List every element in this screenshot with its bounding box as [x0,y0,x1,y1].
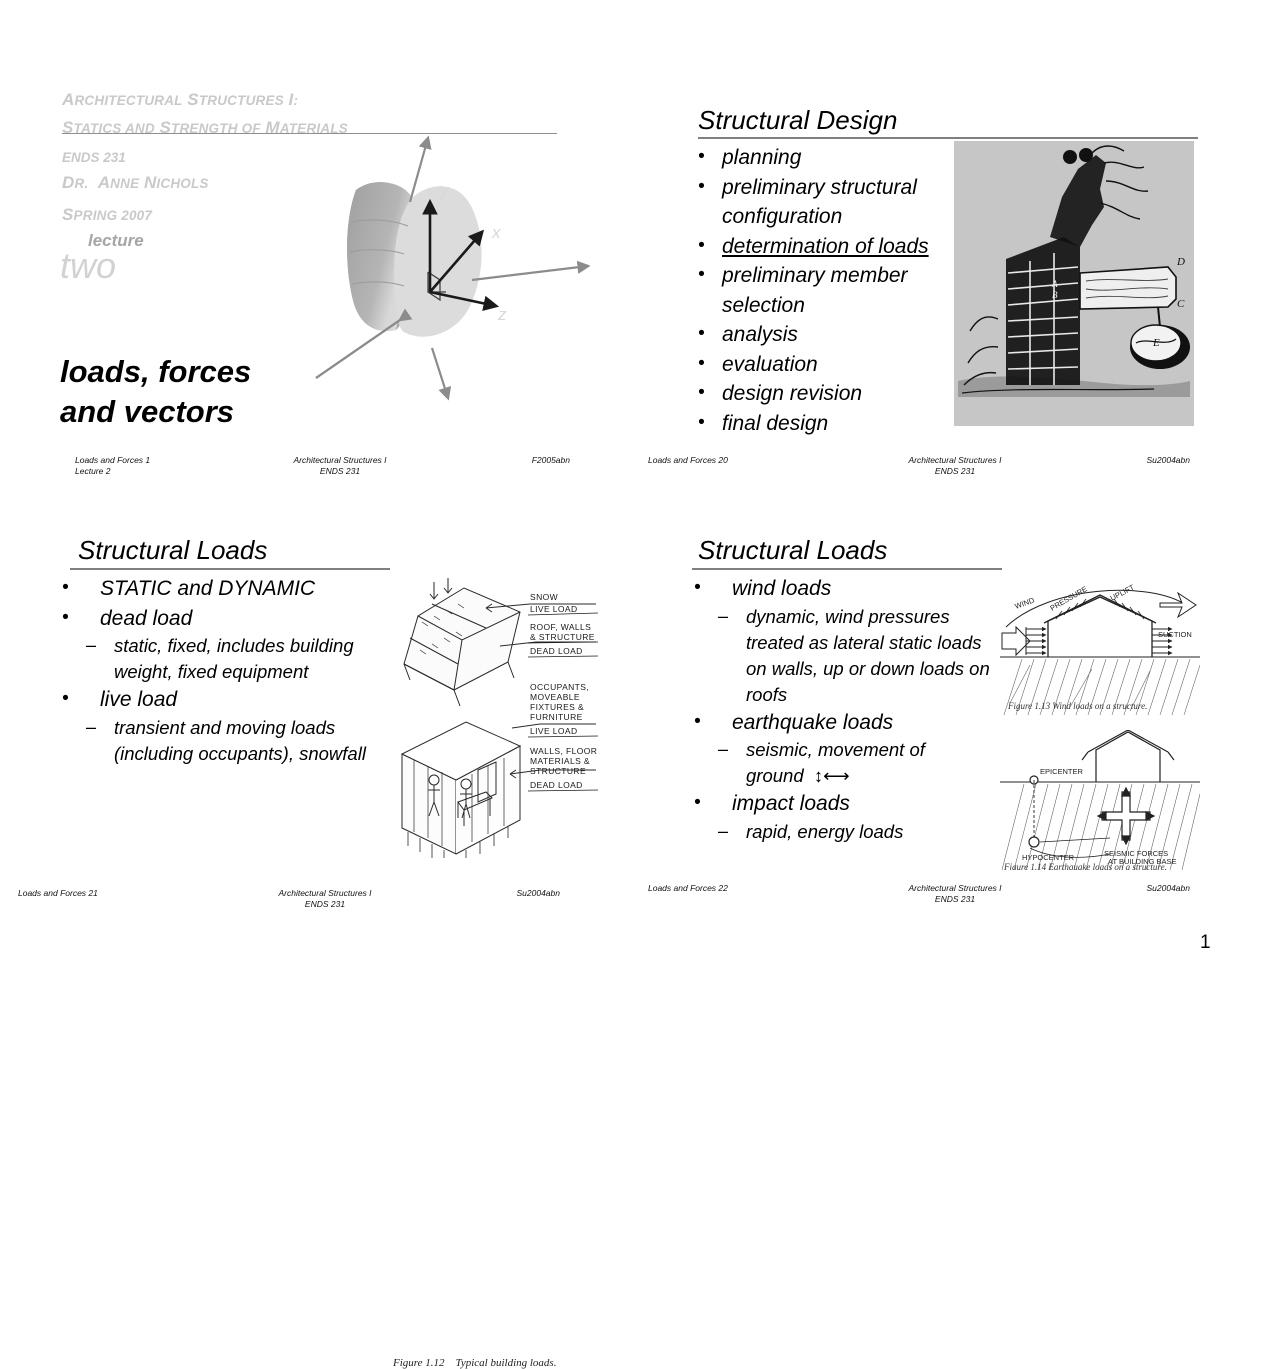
slide-4-title-rule [692,568,1002,570]
page-number: 1 [1200,932,1211,954]
bullet-dot: • [698,349,705,379]
list-item: •planning [688,143,958,173]
course-title-line1: ARCHITECTURAL STRUCTURES I: [62,90,298,110]
title-line-2: and vectors [60,392,251,432]
bullet-dot: • [698,142,705,172]
title-line-1: loads, forces [60,352,251,392]
slide-2-footer-center: Architectural Structures I ENDS 231 [810,455,1100,477]
dash-bullet: – [718,603,728,629]
slide-1-footer-right: F2005abn [430,455,570,466]
annotation-materials: MATERIALS & [530,756,590,766]
instructor-name: DR. ANNE NICHOLS [62,173,209,193]
axis-label-y: y [439,181,450,200]
annotation-fixtures: FIXTURES & [530,702,584,712]
label-A: A [1051,279,1058,289]
dash-bullet: – [86,632,96,658]
annotation-occupants: OCCUPANTS, [530,682,589,692]
list-item: •evaluation [688,350,958,380]
annotation-furniture: FURNITURE [530,712,583,722]
axis-label-x: x [491,223,501,242]
bullet-dot: • [62,603,69,633]
sub-list-item: –dynamic, wind pressures treated as late… [684,604,1004,708]
list-item: •impact loads [684,789,1004,819]
annotation-walls-floor: WALLS, FLOOR [530,746,597,756]
slide-1-title: ARCHITECTURAL STRUCTURES I: STATICS AND … [0,0,640,500]
slide-2-footer-right: Su2004abn [1060,455,1190,466]
slide-3-footer-right: Su2004abn [430,888,560,899]
slide-3-structural-loads-static: Structural Loads •STATIC and DYNAMIC •de… [0,490,640,989]
bullet-dot: • [694,788,701,818]
sub-list-item: –seismic, movement of ground ↕⟷ [684,737,1004,789]
list-item: •earthquake loads [684,708,1004,738]
wind-loads-on-structure-sketch: WIND PRESSURE UPLIFT SUCTION Figure 1.13… [1000,575,1200,715]
bullet-dot: • [698,231,705,261]
annotation-snow: SNOW [530,592,558,602]
label-B: B [1052,290,1058,300]
bullet-dot: • [62,684,69,714]
bullet-dot: • [698,260,705,290]
list-item: •dead load [52,604,402,634]
slide-4-title: Structural Loads [698,535,887,566]
dynamic-load-types-list: •wind loads –dynamic, wind pressures tre… [684,574,1004,845]
ground-motion-arrows-icon: ↕⟷ [804,765,850,786]
slide-3-footer-center: Architectural Structures I ENDS 231 [180,888,470,910]
annotation-structure-1: & STRUCTURE [530,632,595,642]
sub-list-item: –static, fixed, includes building weight… [52,633,402,685]
slide-2-title-rule [698,137,1198,139]
list-item: •final design [688,409,958,439]
handout-page: ARCHITECTURAL STRUCTURES I: STATICS AND … [0,0,1280,989]
annotation-live-load-1: LIVE LOAD [530,604,578,614]
label-C: C [1177,298,1185,310]
annotation-epicenter: EPICENTER [1040,767,1084,776]
slide-2-structural-design: Structural Design •planning •preliminary… [640,0,1280,500]
earthquake-loads-on-structure-sketch: EPICENTER HYPOCENTER SEISMIC FORCES AT B… [1000,730,1200,870]
annotation-dead-load-2: DEAD LOAD [530,780,583,790]
term-label: SPRING 2007 [62,205,152,225]
list-item: •wind loads [684,574,1004,604]
slide-3-title-rule [70,568,390,570]
slide-1-footer-left: Loads and Forces 1 Lecture 2 [75,455,150,477]
annotation-structure-2: STRUCTURE [530,766,586,776]
sub-list-item: –rapid, energy loads [684,819,1004,845]
bullet-dot: • [698,408,705,438]
slide-3-title: Structural Loads [78,535,267,566]
dash-bullet: – [718,736,728,762]
list-item: •STATIC and DYNAMIC [52,574,402,604]
dash-bullet: – [86,714,96,740]
lecture-number: two [60,245,116,287]
bullet-dot: • [698,319,705,349]
annotation-roof-walls: ROOF, WALLS [530,622,591,632]
slide-3-footer-left: Loads and Forces 21 [18,888,98,899]
list-item: •preliminary structural configuration [688,173,958,232]
load-types-list: •STATIC and DYNAMIC •dead load –static, … [52,574,402,767]
slide-4-footer-left: Loads and Forces 22 [648,883,728,894]
slide-4-structural-loads-dynamic: Structural Loads •wind loads –dynamic, w… [640,490,1280,989]
figure-1-12-caption: Figure 1.12 Typical building loads. [393,1357,556,1369]
label-D: D [1176,256,1185,268]
list-item: •live load [52,685,402,715]
bullet-dot: • [694,707,701,737]
bullet-dot: • [698,378,705,408]
annotation-uplift: UPLIFT [1109,582,1136,602]
list-item: •analysis [688,320,958,350]
course-code: ENDS 231 [62,150,126,165]
slide-4-footer-right: Su2004abn [1060,883,1190,894]
annotation-hypocenter: HYPOCENTER [1022,853,1075,862]
list-item: •preliminary member selection [688,261,958,320]
list-item: •design revision [688,379,958,409]
bullet-dot: • [698,172,705,202]
list-item-highlighted: •determination of loads [688,232,958,262]
dash-bullet: – [718,818,728,844]
annotation-live-load-2: LIVE LOAD [530,726,578,736]
sub-list-item: –transient and moving loads (including o… [52,715,402,767]
annotation-suction: SUCTION [1158,630,1192,639]
bullet-dot: • [694,573,701,603]
annotation-moveable: MOVEABLE [530,692,580,702]
slide-2-footer-left: Loads and Forces 20 [648,455,728,466]
slide-4-footer-center: Architectural Structures I ENDS 231 [810,883,1100,905]
annotation-dead-load-1: DEAD LOAD [530,646,583,656]
figure-1-13-caption: Figure 1.13 Wind loads on a structure. [1007,701,1147,711]
axis-label-z: z [497,305,507,324]
3d-axes-blob-diagram: y x z [300,120,590,420]
slide-1-main-title: loads, forces and vectors [60,352,251,432]
figure-1-14-caption: Figure 1.14 Earthquake loads on a struct… [1003,862,1167,870]
bullet-dot: • [62,573,69,603]
structural-design-steps: •planning •preliminary structural config… [688,143,958,438]
slide-2-title: Structural Design [698,105,897,136]
galileo-cantilever-beam-engraving: D C E A B [954,141,1194,426]
typical-building-loads-sketch: SNOW LIVE LOAD ROOF, WALLS & STRUCTURE D… [400,578,615,858]
label-E: E [1152,337,1160,349]
